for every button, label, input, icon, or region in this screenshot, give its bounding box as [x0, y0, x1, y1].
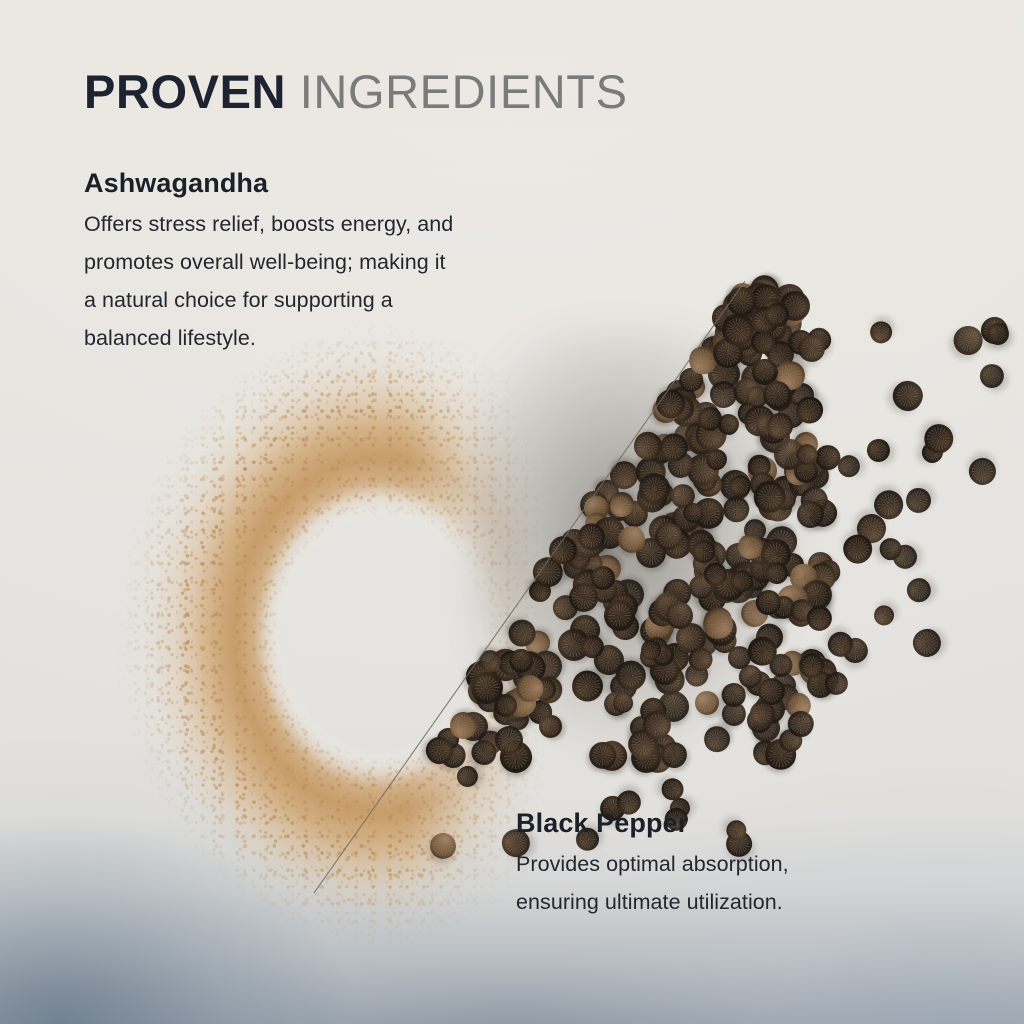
page-title-strong: PROVEN: [84, 65, 286, 118]
peppercorn: [700, 722, 733, 755]
description-line: ensuring ultimate utilization.: [516, 883, 789, 921]
ingredient-block-ashwagandha: Ashwagandha Offers stress relief, boosts…: [84, 168, 453, 357]
peppercorn: [479, 650, 501, 672]
description-line: promotes overall well-being; making it: [84, 243, 453, 281]
peppercorn: [907, 623, 946, 662]
peppercorn: [964, 453, 1001, 490]
description-line: Provides optimal absorption,: [516, 845, 789, 883]
page-title: PROVEN INGREDIENTS: [84, 68, 628, 115]
peppercorn: [902, 573, 936, 607]
peppercorn: [425, 828, 461, 864]
peppercorn: [889, 377, 926, 414]
ingredient-block-black-pepper: Black Pepper Provides optimal absorption…: [516, 808, 789, 921]
ingredient-feature-panel: PROVEN INGREDIENTS Ashwagandha Offers st…: [0, 0, 1024, 1024]
peppercorn: [863, 435, 894, 466]
description-line: a natural choice for supporting a: [84, 281, 453, 319]
peppercorn: [787, 710, 815, 738]
peppercorn: [872, 603, 896, 627]
peppercorn: [722, 495, 750, 523]
ingredient-description-black-pepper: Provides optimal absorption,ensuring ult…: [516, 845, 789, 921]
ingredient-description-ashwagandha: Offers stress relief, boosts energy, and…: [84, 205, 453, 357]
peppercorn: [977, 361, 1007, 391]
peppercorn: [717, 414, 738, 435]
description-line: balanced lifestyle.: [84, 319, 453, 357]
description-line: Offers stress relief, boosts energy, and: [84, 205, 453, 243]
peppercorn: [571, 669, 605, 703]
peppercorn: [866, 317, 896, 347]
peppercorn: [470, 739, 497, 766]
ingredient-title-black-pepper: Black Pepper: [516, 808, 789, 839]
peppercorn: [904, 487, 932, 515]
page-title-light: INGREDIENTS: [300, 65, 628, 118]
peppercorn: [693, 689, 721, 717]
ingredient-title-ashwagandha: Ashwagandha: [84, 168, 453, 199]
peppercorn: [654, 522, 682, 550]
